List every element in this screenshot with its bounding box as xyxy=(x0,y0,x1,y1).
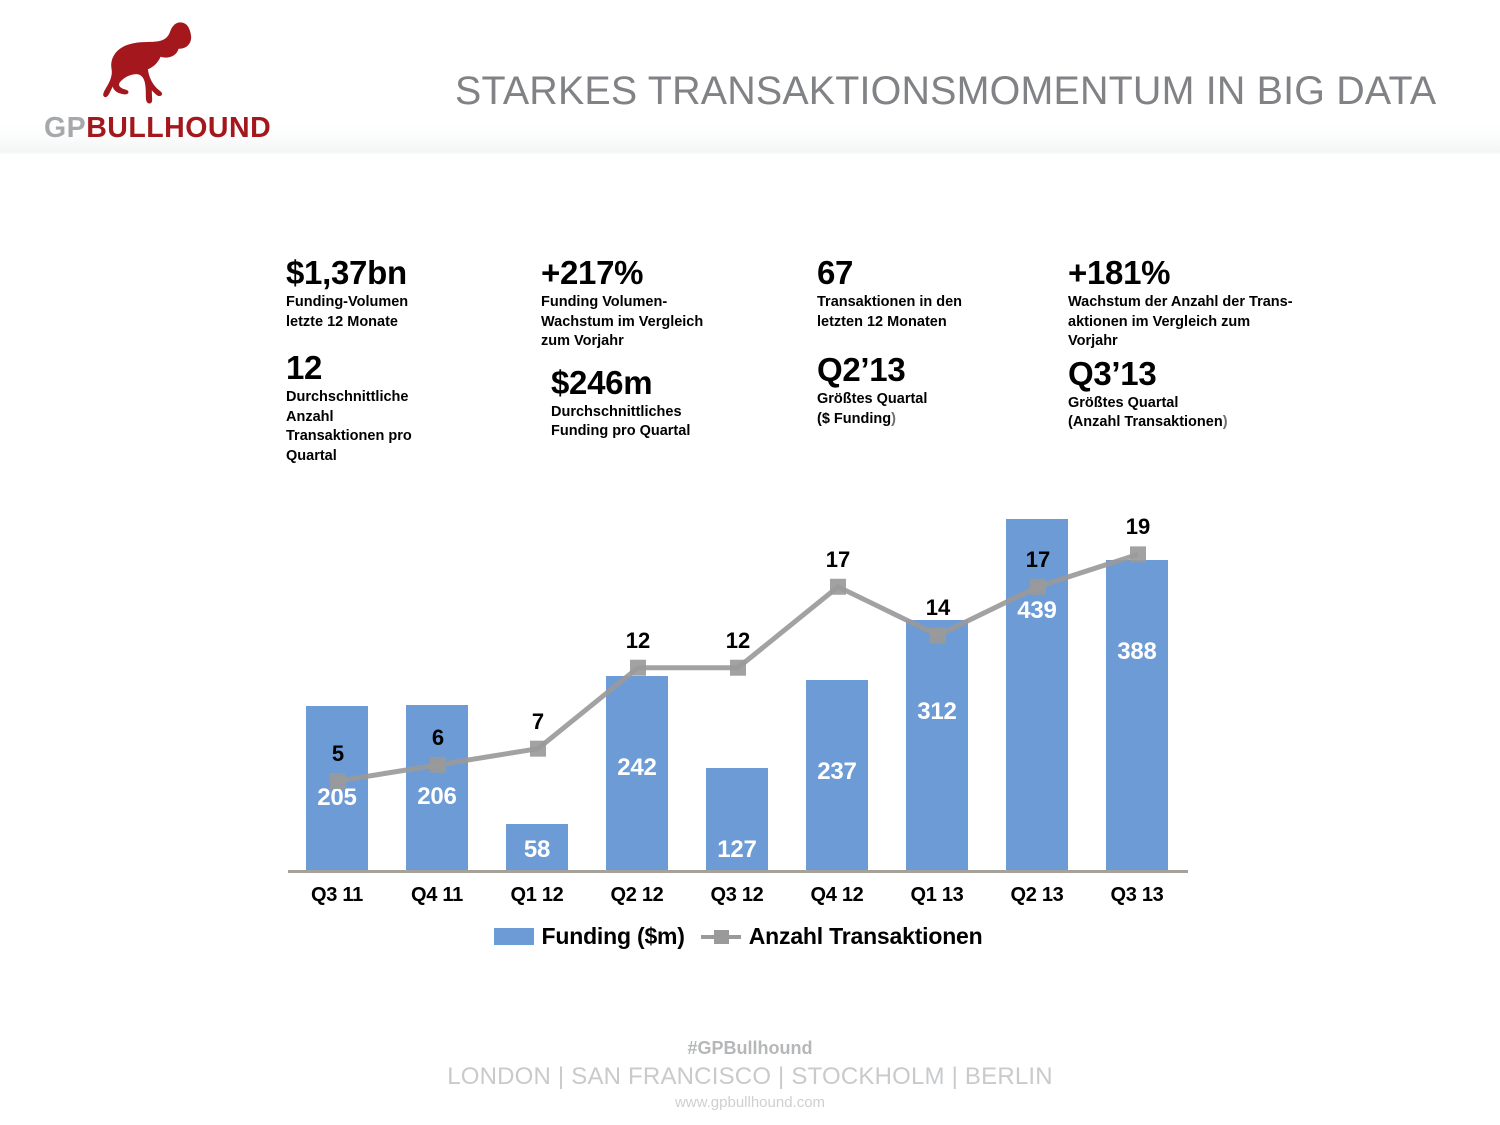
stat-label-line: Transaktionen pro xyxy=(286,427,534,447)
stat-label-line: Wachstum der Anzahl der Trans- xyxy=(1068,293,1338,313)
slide-footer: #GPBullhound LONDON | SAN FRANCISCO | ST… xyxy=(0,1035,1500,1114)
x-axis-tick-label: Q1 12 xyxy=(488,884,586,907)
spacer xyxy=(286,332,534,349)
footer-cities: LONDON | SAN FRANCISCO | STOCKHOLM | BER… xyxy=(0,1061,1500,1092)
x-axis-tick-label: Q3 13 xyxy=(1088,884,1186,907)
legend-line-marker xyxy=(714,930,729,944)
page-title: STARKES TRANSAKTIONSMOMENTUM IN BIG DATA xyxy=(455,68,1470,114)
logo-gp-text: GP xyxy=(44,112,86,144)
bar-funding[interactable]: 237 xyxy=(806,680,868,870)
bar-value-label: 127 xyxy=(706,836,768,864)
legend-item-transactions[interactable]: Anzahl Transaktionen xyxy=(701,923,983,950)
bar-funding[interactable]: 58 xyxy=(506,824,568,870)
stat-label-line: Vorjahr xyxy=(1068,332,1338,352)
stat-value: +181% xyxy=(1068,254,1338,292)
bar-value-label: 237 xyxy=(806,758,868,786)
line-value-label: 6 xyxy=(403,725,473,751)
stat-label-line: Wachstum im Vergleich xyxy=(541,313,803,333)
stat-value: $246m xyxy=(551,364,803,402)
stat-label-line: Funding pro Quartal xyxy=(551,422,803,442)
stat-label-line: Funding-Volumen xyxy=(286,293,534,313)
stat-label-line: Größtes Quartal xyxy=(1068,394,1338,414)
stat-label: Durchschnittliche Anzahl Transaktionen p… xyxy=(286,388,534,466)
stat-label-paren: ) xyxy=(1223,414,1228,430)
stat-column-3: 67 Transaktionen in den letzten 12 Monat… xyxy=(817,254,1057,429)
stat-entry: +217% Funding Volumen- Wachstum im Vergl… xyxy=(541,254,803,352)
line-value-label: 17 xyxy=(1003,547,1073,573)
bar-funding[interactable]: 242 xyxy=(606,676,668,870)
legend-bar-swatch-icon xyxy=(494,928,534,945)
stat-label-line: (Anzahl Transaktionen) xyxy=(1068,413,1338,433)
bulldog-icon xyxy=(102,22,212,108)
stat-label: Wachstum der Anzahl der Trans- aktionen … xyxy=(1068,293,1338,352)
legend-label: Funding ($m) xyxy=(542,923,685,950)
stat-column-4: +181% Wachstum der Anzahl der Trans- akt… xyxy=(1068,254,1338,433)
bar-funding[interactable]: 205 xyxy=(306,706,368,870)
bar-value-label: 206 xyxy=(406,783,468,811)
line-value-label: 14 xyxy=(903,595,973,621)
stat-label-line: letzten 12 Monaten xyxy=(817,313,1057,333)
x-axis-tick-label: Q4 11 xyxy=(388,884,486,907)
x-axis-tick-label: Q3 11 xyxy=(288,884,386,907)
line-value-label: 19 xyxy=(1103,514,1173,540)
footer-hashtag: #GPBullhound xyxy=(0,1035,1500,1061)
x-axis-tick-label: Q4 12 xyxy=(788,884,886,907)
stat-label: Größtes Quartal (Anzahl Transaktionen) xyxy=(1068,394,1338,433)
legend-line-swatch-icon xyxy=(701,928,741,945)
slide-root: GPBULLHOUND STARKES TRANSAKTIONSMOMENTUM… xyxy=(0,0,1500,1125)
line-value-label: 12 xyxy=(703,628,773,654)
stat-entry: 12 Durchschnittliche Anzahl Transaktione… xyxy=(286,349,534,466)
stat-label-line: letzte 12 Monate xyxy=(286,313,534,333)
logo-wordmark: GPBULLHOUND xyxy=(44,112,274,145)
line-value-label: 12 xyxy=(603,628,673,654)
line-value-label: 5 xyxy=(303,741,373,767)
bar-value-label: 242 xyxy=(606,754,668,782)
stat-label: Größtes Quartal ($ Funding) xyxy=(817,390,1057,429)
chart-legend: Funding ($m) Anzahl Transaktionen xyxy=(288,920,1188,952)
stat-label-text: (Anzahl Transaktionen xyxy=(1068,414,1223,430)
logo-bullhound-text: BULLHOUND xyxy=(86,112,271,144)
stat-label-line: aktionen im Vergleich zum xyxy=(1068,313,1338,333)
x-axis-tick-label: Q2 12 xyxy=(588,884,686,907)
line-value-label: 17 xyxy=(803,547,873,573)
stat-label: Transaktionen in den letzten 12 Monaten xyxy=(817,293,1057,332)
stat-label: Funding Volumen- Wachstum im Vergleich z… xyxy=(541,293,803,352)
stat-label: Durchschnittliches Funding pro Quartal xyxy=(551,403,803,442)
stat-entry: $1,37bn Funding-Volumen letzte 12 Monate xyxy=(286,254,534,332)
stat-label-line: ($ Funding) xyxy=(817,410,1057,430)
stat-entry: +181% Wachstum der Anzahl der Trans- akt… xyxy=(1068,254,1338,352)
stat-label-line: zum Vorjahr xyxy=(541,332,803,352)
bar-funding[interactable]: 127 xyxy=(706,768,768,870)
stat-value: +217% xyxy=(541,254,803,292)
legend-label: Anzahl Transaktionen xyxy=(749,923,983,950)
stat-column-2: +217% Funding Volumen- Wachstum im Vergl… xyxy=(541,254,803,442)
spacer xyxy=(541,352,803,364)
bar-funding[interactable]: 388 xyxy=(1106,560,1168,870)
x-axis-line xyxy=(288,870,1188,873)
stat-value: 12 xyxy=(286,349,534,387)
line-value-label: 7 xyxy=(503,709,573,735)
stat-label-line: Quartal xyxy=(286,447,534,467)
stat-label-line: Durchschnittliche xyxy=(286,388,534,408)
stat-column-1: $1,37bn Funding-Volumen letzte 12 Monate… xyxy=(286,254,534,466)
bar-value-label: 439 xyxy=(1006,597,1068,625)
stat-entry: $246m Durchschnittliches Funding pro Qua… xyxy=(551,364,803,442)
header-divider xyxy=(0,151,1500,154)
stat-label-text: ($ Funding xyxy=(817,411,891,427)
stat-label-line: Größtes Quartal xyxy=(817,390,1057,410)
combo-chart: 20520658242127237312439388 5671212171417… xyxy=(288,470,1188,874)
stat-entry: 67 Transaktionen in den letzten 12 Monat… xyxy=(817,254,1057,332)
legend-item-funding[interactable]: Funding ($m) xyxy=(494,923,685,950)
bar-funding[interactable]: 312 xyxy=(906,620,968,870)
stat-label-paren: ) xyxy=(891,411,896,427)
stat-value: Q2’13 xyxy=(817,351,1057,389)
stat-entry: Q3’13 Größtes Quartal (Anzahl Transaktio… xyxy=(1068,355,1338,433)
stat-value: $1,37bn xyxy=(286,254,534,292)
spacer xyxy=(817,332,1057,351)
footer-url[interactable]: www.gpbullhound.com xyxy=(0,1092,1500,1114)
x-axis-tick-label: Q3 12 xyxy=(688,884,786,907)
gp-bullhound-logo: GPBULLHOUND xyxy=(44,22,274,132)
bar-value-label: 388 xyxy=(1106,638,1168,666)
x-axis-tick-label: Q1 13 xyxy=(888,884,986,907)
stat-label: Funding-Volumen letzte 12 Monate xyxy=(286,293,534,332)
chart-plot-area: 20520658242127237312439388 xyxy=(288,470,1188,872)
stat-label-line: Durchschnittliches xyxy=(551,403,803,423)
stat-value: 67 xyxy=(817,254,1057,292)
bar-value-label: 58 xyxy=(506,836,568,864)
x-axis-labels: Q3 11Q4 11Q1 12Q2 12Q3 12Q4 12Q1 13Q2 13… xyxy=(288,884,1188,914)
stat-label-line: Transaktionen in den xyxy=(817,293,1057,313)
stat-value: Q3’13 xyxy=(1068,355,1338,393)
x-axis-tick-label: Q2 13 xyxy=(988,884,1086,907)
bar-value-label: 205 xyxy=(306,784,368,812)
stat-entry: Q2’13 Größtes Quartal ($ Funding) xyxy=(817,351,1057,429)
stat-label-line: Anzahl xyxy=(286,408,534,428)
stat-label-line: Funding Volumen- xyxy=(541,293,803,313)
bar-value-label: 312 xyxy=(906,698,968,726)
